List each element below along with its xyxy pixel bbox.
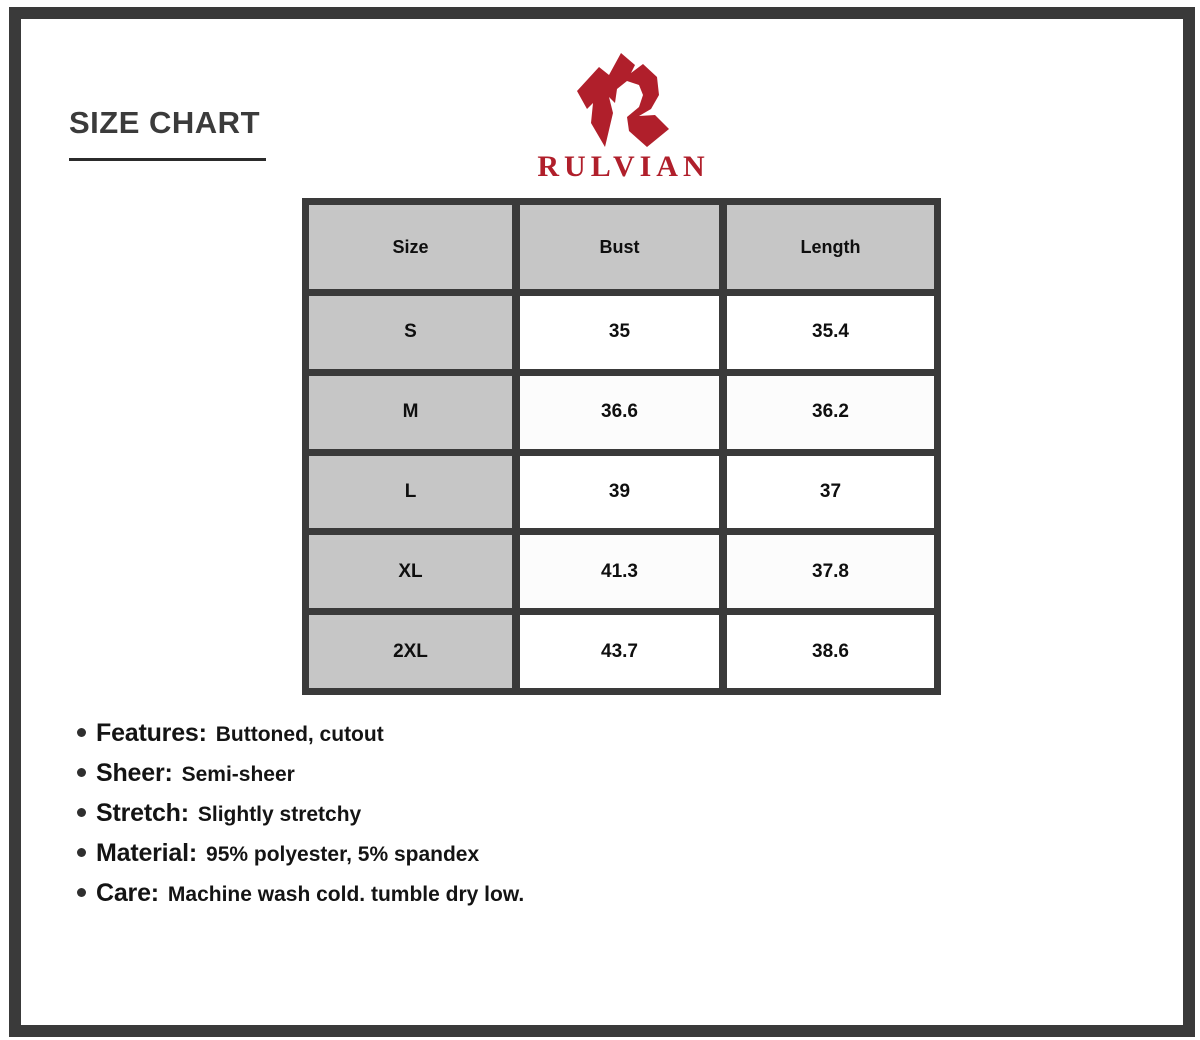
- column-header-bust: Bust: [520, 205, 719, 289]
- cell-size: M: [309, 376, 512, 449]
- column-header-length: Length: [727, 205, 934, 289]
- size-chart-table: Size Bust Length S 35 35.4 M 36.6 36.2 L…: [302, 198, 941, 695]
- spec-value: 95% polyester, 5% spandex: [206, 843, 479, 867]
- cell-bust: 43.7: [520, 615, 719, 688]
- spec-label: Features:: [96, 719, 207, 748]
- column-header-size: Size: [309, 205, 512, 289]
- spec-label: Stretch:: [96, 799, 189, 828]
- spec-label: Sheer:: [96, 759, 173, 788]
- cell-length: 37.8: [727, 535, 934, 608]
- cell-size: L: [309, 456, 512, 529]
- bullet-dot-icon: [77, 768, 86, 777]
- page-title: SIZE CHART: [69, 107, 369, 138]
- rulvian-logo-icon: [569, 51, 673, 149]
- table-row: L 39 37: [309, 456, 934, 529]
- spec-label: Care:: [96, 879, 159, 908]
- spec-value: Buttoned, cutout: [216, 723, 384, 747]
- spec-value: Semi-sheer: [182, 763, 295, 787]
- cell-length: 36.2: [727, 376, 934, 449]
- title-block: SIZE CHART: [69, 107, 369, 161]
- cell-size: S: [309, 296, 512, 369]
- spec-label: Material:: [96, 839, 197, 868]
- spec-value: Slightly stretchy: [198, 803, 361, 827]
- page-content: SIZE CHART RULVIAN Size Bust Length S: [21, 19, 1183, 1025]
- product-spec-list: Features: Buttoned, cutout Sheer: Semi-s…: [77, 719, 977, 919]
- title-underline-rule: [69, 158, 266, 161]
- cell-bust: 36.6: [520, 376, 719, 449]
- cell-size: 2XL: [309, 615, 512, 688]
- bullet-dot-icon: [77, 888, 86, 897]
- cell-size: XL: [309, 535, 512, 608]
- list-item: Sheer: Semi-sheer: [77, 759, 977, 799]
- bullet-dot-icon: [77, 728, 86, 737]
- size-chart-page: SIZE CHART RULVIAN Size Bust Length S: [0, 0, 1200, 1040]
- list-item: Care: Machine wash cold. tumble dry low.: [77, 879, 977, 919]
- table-row: 2XL 43.7 38.6: [309, 615, 934, 688]
- brand-logo: RULVIAN: [501, 51, 741, 182]
- list-item: Features: Buttoned, cutout: [77, 719, 977, 759]
- brand-wordmark: RULVIAN: [501, 152, 741, 182]
- page-border-frame: SIZE CHART RULVIAN Size Bust Length S: [9, 7, 1195, 1037]
- cell-length: 38.6: [727, 615, 934, 688]
- table-row: XL 41.3 37.8: [309, 535, 934, 608]
- bullet-dot-icon: [77, 848, 86, 857]
- list-item: Material: 95% polyester, 5% spandex: [77, 839, 977, 879]
- spec-value: Machine wash cold. tumble dry low.: [168, 883, 524, 907]
- table-header-row: Size Bust Length: [309, 205, 934, 289]
- cell-length: 37: [727, 456, 934, 529]
- table-row: S 35 35.4: [309, 296, 934, 369]
- cell-bust: 41.3: [520, 535, 719, 608]
- cell-bust: 35: [520, 296, 719, 369]
- bullet-dot-icon: [77, 808, 86, 817]
- cell-length: 35.4: [727, 296, 934, 369]
- table-row: M 36.6 36.2: [309, 376, 934, 449]
- cell-bust: 39: [520, 456, 719, 529]
- list-item: Stretch: Slightly stretchy: [77, 799, 977, 839]
